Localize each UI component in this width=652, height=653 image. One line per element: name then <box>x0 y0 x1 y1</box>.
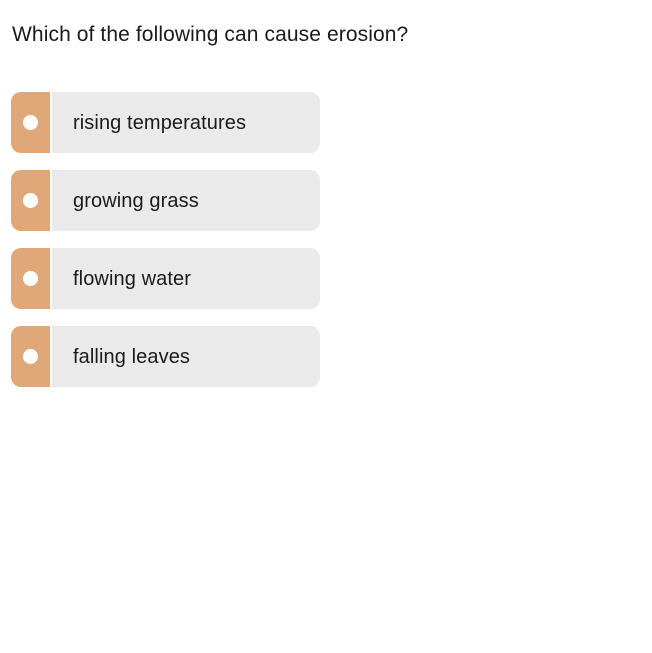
answer-options-list: rising temperatures growing grass flowin… <box>11 92 320 404</box>
option-label-0: rising temperatures <box>73 111 246 135</box>
radio-button-unselected-icon[interactable] <box>23 115 38 130</box>
option-label-1: growing grass <box>73 189 199 213</box>
option-body-1[interactable]: growing grass <box>52 170 320 231</box>
option-body-2[interactable]: flowing water <box>52 248 320 309</box>
quiz-question-panel: Which of the following can cause erosion… <box>0 0 652 653</box>
option-marker-2[interactable] <box>11 248 50 309</box>
option-body-0[interactable]: rising temperatures <box>52 92 320 153</box>
answer-option-2[interactable]: flowing water <box>11 248 320 309</box>
radio-button-unselected-icon[interactable] <box>23 349 38 364</box>
option-label-2: flowing water <box>73 267 191 291</box>
option-body-3[interactable]: falling leaves <box>52 326 320 387</box>
page-title: Which of the following can cause erosion… <box>12 22 408 48</box>
answer-option-3[interactable]: falling leaves <box>11 326 320 387</box>
answer-option-1[interactable]: growing grass <box>11 170 320 231</box>
option-marker-1[interactable] <box>11 170 50 231</box>
answer-option-0[interactable]: rising temperatures <box>11 92 320 153</box>
option-marker-0[interactable] <box>11 92 50 153</box>
option-marker-3[interactable] <box>11 326 50 387</box>
radio-button-unselected-icon[interactable] <box>23 193 38 208</box>
option-label-3: falling leaves <box>73 345 190 369</box>
radio-button-unselected-icon[interactable] <box>23 271 38 286</box>
